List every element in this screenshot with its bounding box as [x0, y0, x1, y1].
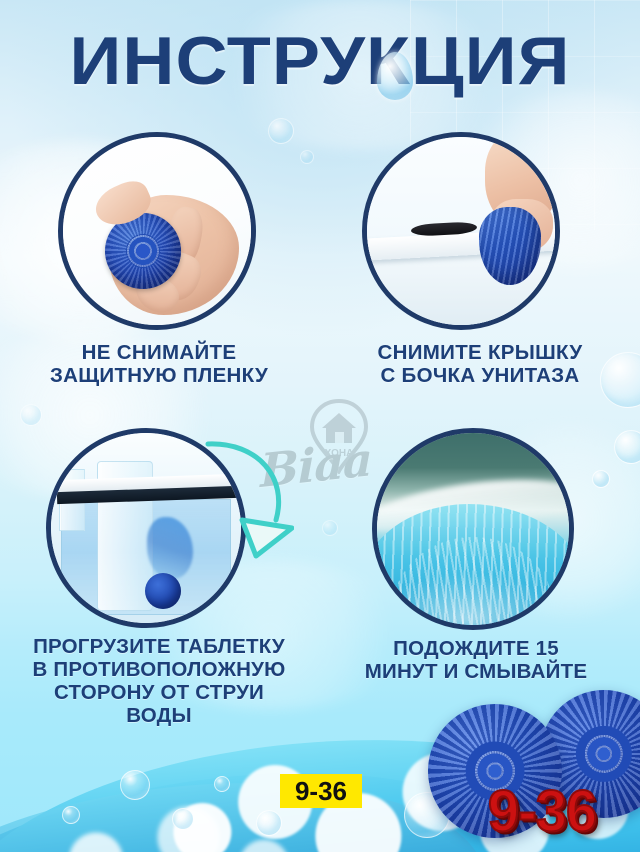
caption-line: ВОДЫ — [6, 705, 312, 728]
step-1-caption: НЕ СНИМАЙТЕ ЗАЩИТНУЮ ПЛЕНКУ — [18, 342, 300, 388]
step-2-photo — [362, 132, 560, 330]
bubble-decoration — [120, 770, 150, 800]
blue-tablet-graphic — [145, 573, 181, 609]
yellow-size-badge: 9-36 — [280, 774, 362, 808]
bubble-decoration — [214, 776, 230, 792]
bubble-decoration — [62, 806, 80, 824]
caption-line: СТОРОНУ ОТ СТРУИ — [6, 682, 312, 705]
caption-line: СНИМИТЕ КРЫШКУ — [338, 342, 622, 365]
caption-line: В ПРОТИВОПОЛОЖНУЮ — [6, 659, 312, 682]
red-size-badge: 9-36 — [488, 776, 596, 844]
caption-line: ПОДОЖДИТЕ 15 — [330, 638, 622, 661]
blue-tablet-graphic — [479, 207, 541, 285]
caption-line: МИНУТ И СМЫВАЙТЕ — [330, 661, 622, 684]
step-3-caption: ПРОГРУЗИТЕ ТАБЛЕТКУ В ПРОТИВОПОЛОЖНУЮ СТ… — [6, 636, 312, 728]
page-title: ИНСТРУКЦИЯ — [0, 22, 640, 100]
caption-line: ПРОГРУЗИТЕ ТАБЛЕТКУ — [6, 636, 312, 659]
step-1-photo — [58, 132, 256, 330]
step-4-caption: ПОДОЖДИТЕ 15 МИНУТ И СМЫВАЙТЕ — [330, 638, 622, 684]
bubble-decoration — [268, 118, 294, 144]
caption-line: С БОЧКА УНИТАЗА — [338, 365, 622, 388]
bubble-decoration — [256, 810, 282, 836]
caption-line: ЗАЩИТНУЮ ПЛЕНКУ — [18, 365, 300, 388]
step-4-photo — [372, 428, 574, 630]
bubble-decoration — [20, 404, 42, 426]
step-2-caption: СНИМИТЕ КРЫШКУ С БОЧКА УНИТАЗА — [338, 342, 622, 388]
direction-arrow-icon — [196, 432, 294, 562]
bubble-decoration — [614, 430, 640, 464]
bubble-decoration — [300, 150, 314, 164]
bubble-decoration — [592, 470, 610, 488]
bubble-decoration — [172, 808, 194, 830]
caption-line: НЕ СНИМАЙТЕ — [18, 342, 300, 365]
bubble-decoration — [322, 520, 338, 536]
